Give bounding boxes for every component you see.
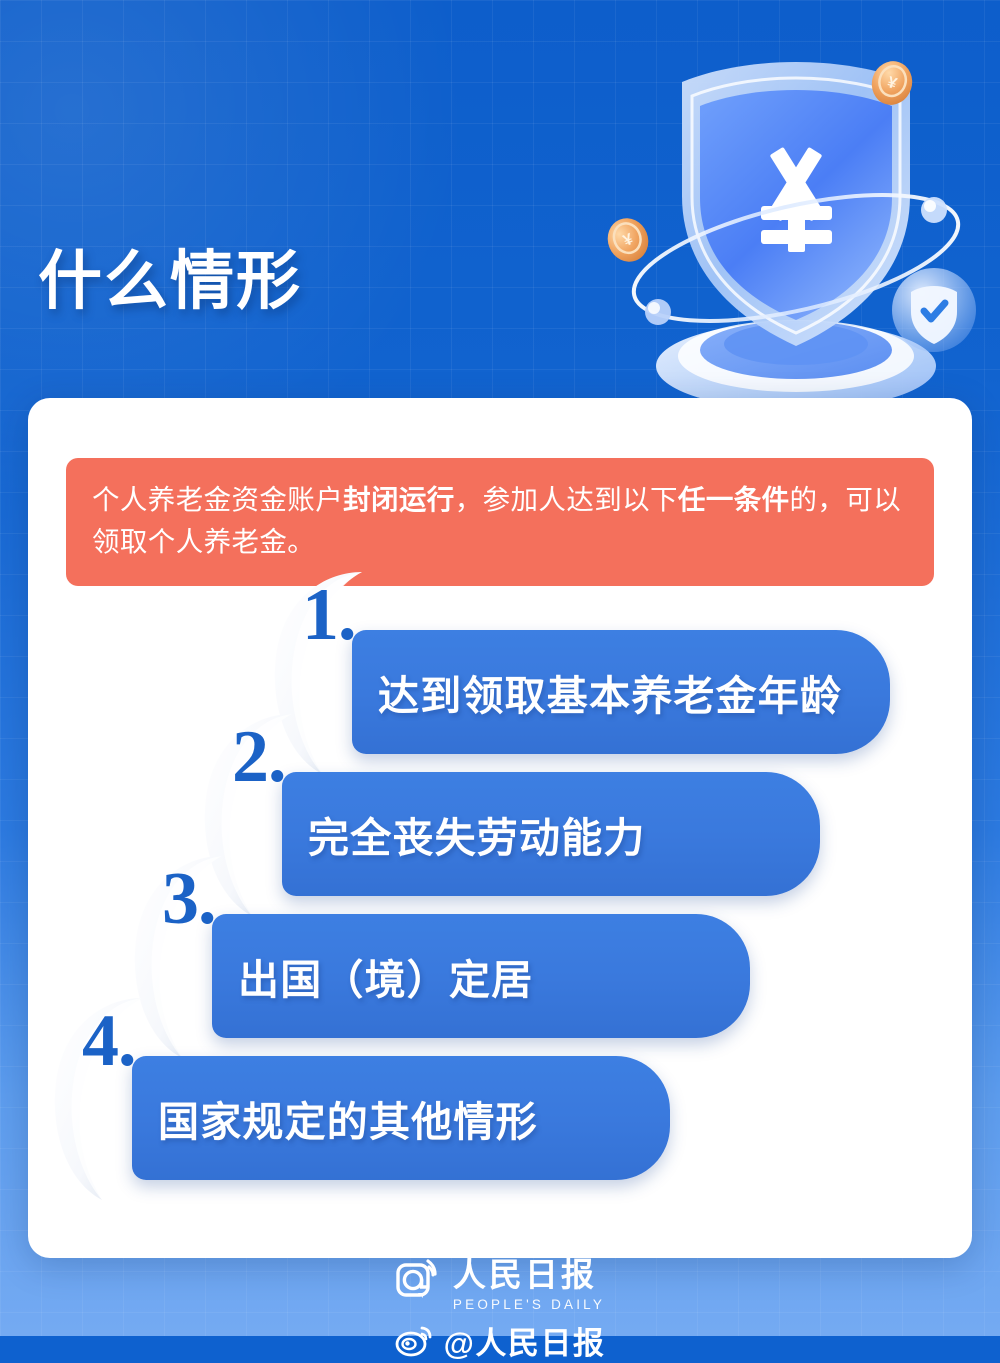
list-item-number: 1. (302, 578, 356, 652)
highlight-banner: 个人养老金资金账户封闭运行，参加人达到以下任一条件的，可以领取个人养老金。 (66, 458, 934, 586)
list-item[interactable]: 4. 国家规定的其他情形 (46, 996, 686, 1202)
weibo-handle-row[interactable]: @人民日报 (395, 1318, 606, 1363)
list-item-number: 2. (232, 720, 286, 794)
at-sign-icon (395, 1258, 443, 1302)
footer: 人民日报 PEOPLE'S DAILY @人民日报 (0, 1248, 1000, 1363)
banner-bold-2: 任一条件 (678, 484, 790, 515)
banner-text-part-1: 个人养老金资金账户 (92, 484, 343, 515)
logo-name: 人民日报 (453, 1248, 605, 1296)
page-title-line-1: 什么情形 (38, 240, 558, 324)
list-item-number: 4. (82, 1004, 136, 1078)
list-item-label: 国家规定的其他情形 (158, 1088, 538, 1148)
weibo-handle: @人民日报 (444, 1318, 606, 1363)
list-item-bar[interactable]: 国家规定的其他情形 (132, 1056, 670, 1180)
logo-subtitle: PEOPLE'S DAILY (453, 1297, 605, 1312)
shield-illustration: ¥ ¥ (600, 28, 1000, 428)
weibo-icon (395, 1325, 435, 1357)
banner-bold-1: 封闭运行 (343, 484, 455, 515)
shield-check-badge (892, 268, 976, 352)
list-item-number: 3. (162, 862, 216, 936)
peoples-daily-logo: 人民日报 PEOPLE'S DAILY (395, 1248, 605, 1312)
banner-text-part-2: ，参加人达到以下 (455, 484, 678, 515)
coin-icon-left: ¥ (601, 212, 655, 268)
